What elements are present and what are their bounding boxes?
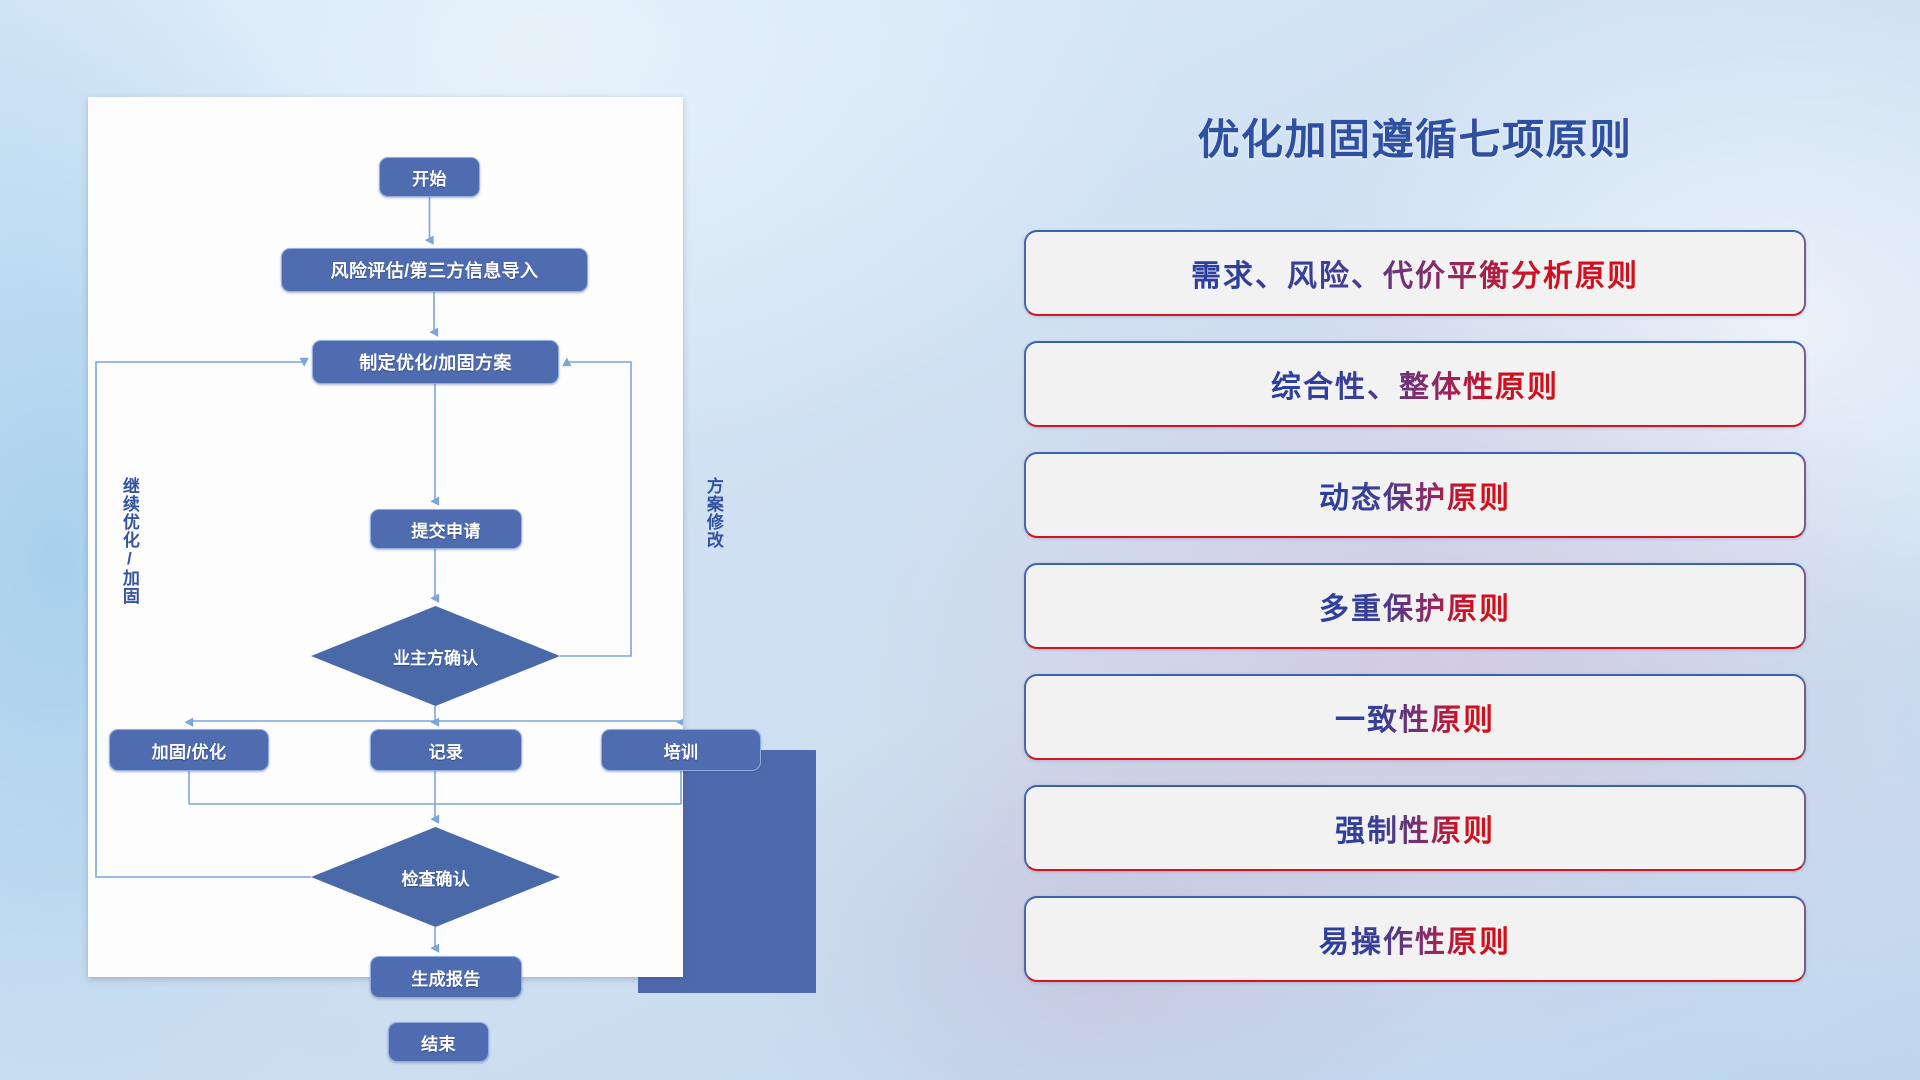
flow-edge-label-continue-optimize: 继续优化/加固	[120, 477, 138, 605]
principle-card-label: 一致性原则	[1335, 695, 1495, 739]
principle-card-6[interactable]: 强制性原则	[1024, 785, 1806, 871]
principle-card-label: 综合性、整体性原则	[1271, 362, 1559, 406]
page-title: 优化加固遵循七项原则	[1000, 106, 1830, 167]
principle-card-5[interactable]: 一致性原则	[1024, 674, 1806, 760]
principle-card-label: 需求、风险、代价平衡分析原则	[1191, 251, 1639, 295]
flow-edge-label-plan-revision: 方案修改	[704, 477, 722, 549]
flowchart-card: 开始 风险评估/第三方信息导入 制定优化/加固方案 提交申请 业主方确认 加固/…	[88, 97, 683, 977]
flow-node-label: 结束	[421, 1030, 456, 1055]
flow-node-record[interactable]: 记录	[370, 729, 522, 771]
flow-node-label-check-confirm: 检查确认	[311, 827, 560, 927]
flow-node-label: 加固/优化	[152, 738, 227, 763]
flow-node-label: 记录	[429, 738, 464, 763]
flow-node-start[interactable]: 开始	[379, 157, 480, 197]
principle-card-label: 强制性原则	[1335, 806, 1495, 850]
flow-node-generate-report[interactable]: 生成报告	[370, 956, 522, 998]
flow-node-label-owner-confirm: 业主方确认	[311, 606, 560, 706]
flow-node-label: 培训	[664, 738, 699, 763]
principle-card-2[interactable]: 综合性、整体性原则	[1024, 341, 1806, 427]
flow-node-make-plan[interactable]: 制定优化/加固方案	[312, 340, 559, 384]
flow-node-reinforce-optimize[interactable]: 加固/优化	[109, 729, 269, 771]
flow-node-end[interactable]: 结束	[388, 1022, 489, 1062]
flow-node-label: 开始	[412, 165, 447, 190]
flow-node-label: 业主方确认	[393, 644, 478, 669]
principle-card-3[interactable]: 动态保护原则	[1024, 452, 1806, 538]
principle-card-label: 动态保护原则	[1319, 473, 1511, 517]
flow-node-label: 提交申请	[411, 517, 481, 542]
flow-node-label: 生成报告	[411, 965, 481, 990]
principles-panel: 优化加固遵循七项原则 需求、风险、代价平衡分析原则 综合性、整体性原则 动态保护…	[1000, 90, 1830, 1020]
flow-node-label: 检查确认	[402, 865, 470, 890]
flow-node-submit-application[interactable]: 提交申请	[370, 509, 522, 549]
flow-node-label: 制定优化/加固方案	[359, 349, 512, 375]
principle-card-label: 多重保护原则	[1319, 584, 1511, 628]
principle-card-label: 易操作性原则	[1319, 917, 1511, 961]
principle-card-7[interactable]: 易操作性原则	[1024, 896, 1806, 982]
flow-node-risk-assessment[interactable]: 风险评估/第三方信息导入	[281, 248, 588, 292]
principles-list: 需求、风险、代价平衡分析原则 综合性、整体性原则 动态保护原则 多重保护原则 一…	[1024, 230, 1806, 1007]
flow-node-label: 风险评估/第三方信息导入	[331, 257, 539, 283]
principle-card-1[interactable]: 需求、风险、代价平衡分析原则	[1024, 230, 1806, 316]
flow-node-training[interactable]: 培训	[601, 729, 761, 771]
principle-card-4[interactable]: 多重保护原则	[1024, 563, 1806, 649]
